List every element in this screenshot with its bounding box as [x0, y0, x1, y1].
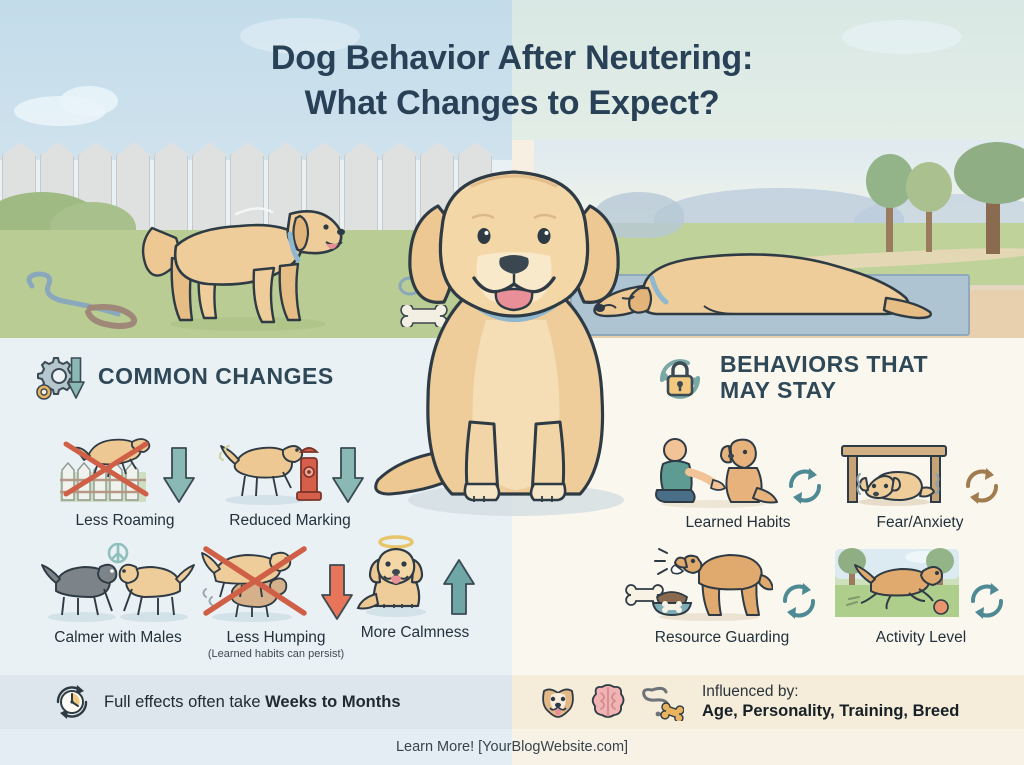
- section-header-common-changes: COMMON CHANGES: [32, 352, 334, 402]
- section-header-behaviors-that-may-stay: BEHAVIORS THAT MAY STAY: [652, 350, 928, 406]
- section-heading-text: COMMON CHANGES: [98, 364, 334, 390]
- brain-icon: [588, 684, 628, 720]
- item-caption: Less Humping: [186, 629, 366, 647]
- item-subcaption: (Learned habits can persist): [186, 648, 366, 660]
- item-caption: More Calmness: [340, 624, 490, 642]
- footer-influences-line-1: Influenced by:: [702, 682, 959, 701]
- leash-icon: [22, 268, 142, 330]
- footer-timeline-text: Full effects often take Weeks to Months: [104, 693, 401, 712]
- lock-cycle-icon: [652, 350, 708, 406]
- infographic-canvas: Dog Behavior After Neutering: What Chang…: [0, 0, 1024, 765]
- dog-guarding-bowl-icon: [623, 545, 773, 623]
- title-line-1: Dog Behavior After Neutering:: [0, 36, 1024, 81]
- item-caption: Learned Habits: [640, 514, 836, 532]
- two-dogs-peace-icon: [38, 543, 198, 623]
- item-more-calmness[interactable]: More Calmness: [340, 540, 490, 642]
- gear-down-arrow-icon: [32, 352, 86, 402]
- person-training-dog-icon: [649, 434, 779, 508]
- cycle-arrow-icon: [965, 579, 1009, 623]
- title-line-2: What Changes to Expect?: [0, 81, 1024, 126]
- section-heading-text: BEHAVIORS THAT MAY STAY: [720, 352, 928, 404]
- sitting-golden-retriever-illustration: [368, 150, 658, 525]
- item-caption: Activity Level: [828, 629, 1014, 647]
- calm-dog-halo-icon: [354, 532, 438, 618]
- cycle-arrow-icon: [777, 579, 821, 623]
- item-less-humping[interactable]: Less Humping (Learned habits can persist…: [186, 545, 366, 660]
- footer-timeline: Full effects often take Weeks to Months: [0, 675, 512, 729]
- cycle-arrow-icon: [783, 464, 827, 508]
- item-caption: Fear/Anxiety: [830, 514, 1010, 532]
- down-arrow-icon: [162, 444, 196, 506]
- up-arrow-icon: [442, 556, 476, 618]
- item-fear-anxiety[interactable]: Fear/Anxiety: [830, 430, 1010, 532]
- learn-more-link[interactable]: Learn More! [YourBlogWebsite.com]: [396, 739, 628, 755]
- dog-face-icon: [538, 683, 578, 721]
- leash-bone-icon: [638, 683, 684, 721]
- item-resource-guarding[interactable]: Resource Guarding: [612, 545, 832, 647]
- item-learned-habits[interactable]: Learned Habits: [640, 430, 836, 532]
- item-caption: Reduced Marking: [192, 512, 388, 530]
- dog-marking-hydrant-icon: [215, 430, 327, 506]
- bottom-bar: Learn More! [YourBlogWebsite.com]: [0, 729, 1024, 765]
- section-heading-line-2: MAY STAY: [720, 377, 837, 403]
- footer-timeline-prefix: Full effects often take: [104, 693, 265, 711]
- dog-humping-crossed-icon: [198, 543, 316, 623]
- footer-influences: Influenced by: Age, Personality, Trainin…: [512, 675, 1024, 729]
- dog-jumping-fence-crossed-icon: [54, 430, 158, 506]
- dog-running-park-icon: [833, 545, 961, 623]
- footer-influences-text: Influenced by: Age, Personality, Trainin…: [702, 682, 959, 722]
- cycle-arrow-icon: [960, 464, 1004, 508]
- section-heading-line-1: BEHAVIORS THAT: [720, 351, 928, 377]
- item-activity-level[interactable]: Activity Level: [828, 545, 1014, 647]
- clock-cycle-icon: [52, 682, 92, 722]
- dog-under-table-icon: [836, 434, 956, 508]
- footer-timeline-strong: Weeks to Months: [265, 693, 400, 711]
- footer-influences-line-2: Age, Personality, Training, Breed: [702, 701, 959, 722]
- down-arrow-icon: [331, 444, 365, 506]
- tree-icon: [906, 162, 952, 212]
- walking-dog-illustration: [130, 192, 350, 334]
- page-title: Dog Behavior After Neutering: What Chang…: [0, 36, 1024, 126]
- item-reduced-marking[interactable]: Reduced Marking: [192, 428, 388, 530]
- item-caption: Resource Guarding: [612, 629, 832, 647]
